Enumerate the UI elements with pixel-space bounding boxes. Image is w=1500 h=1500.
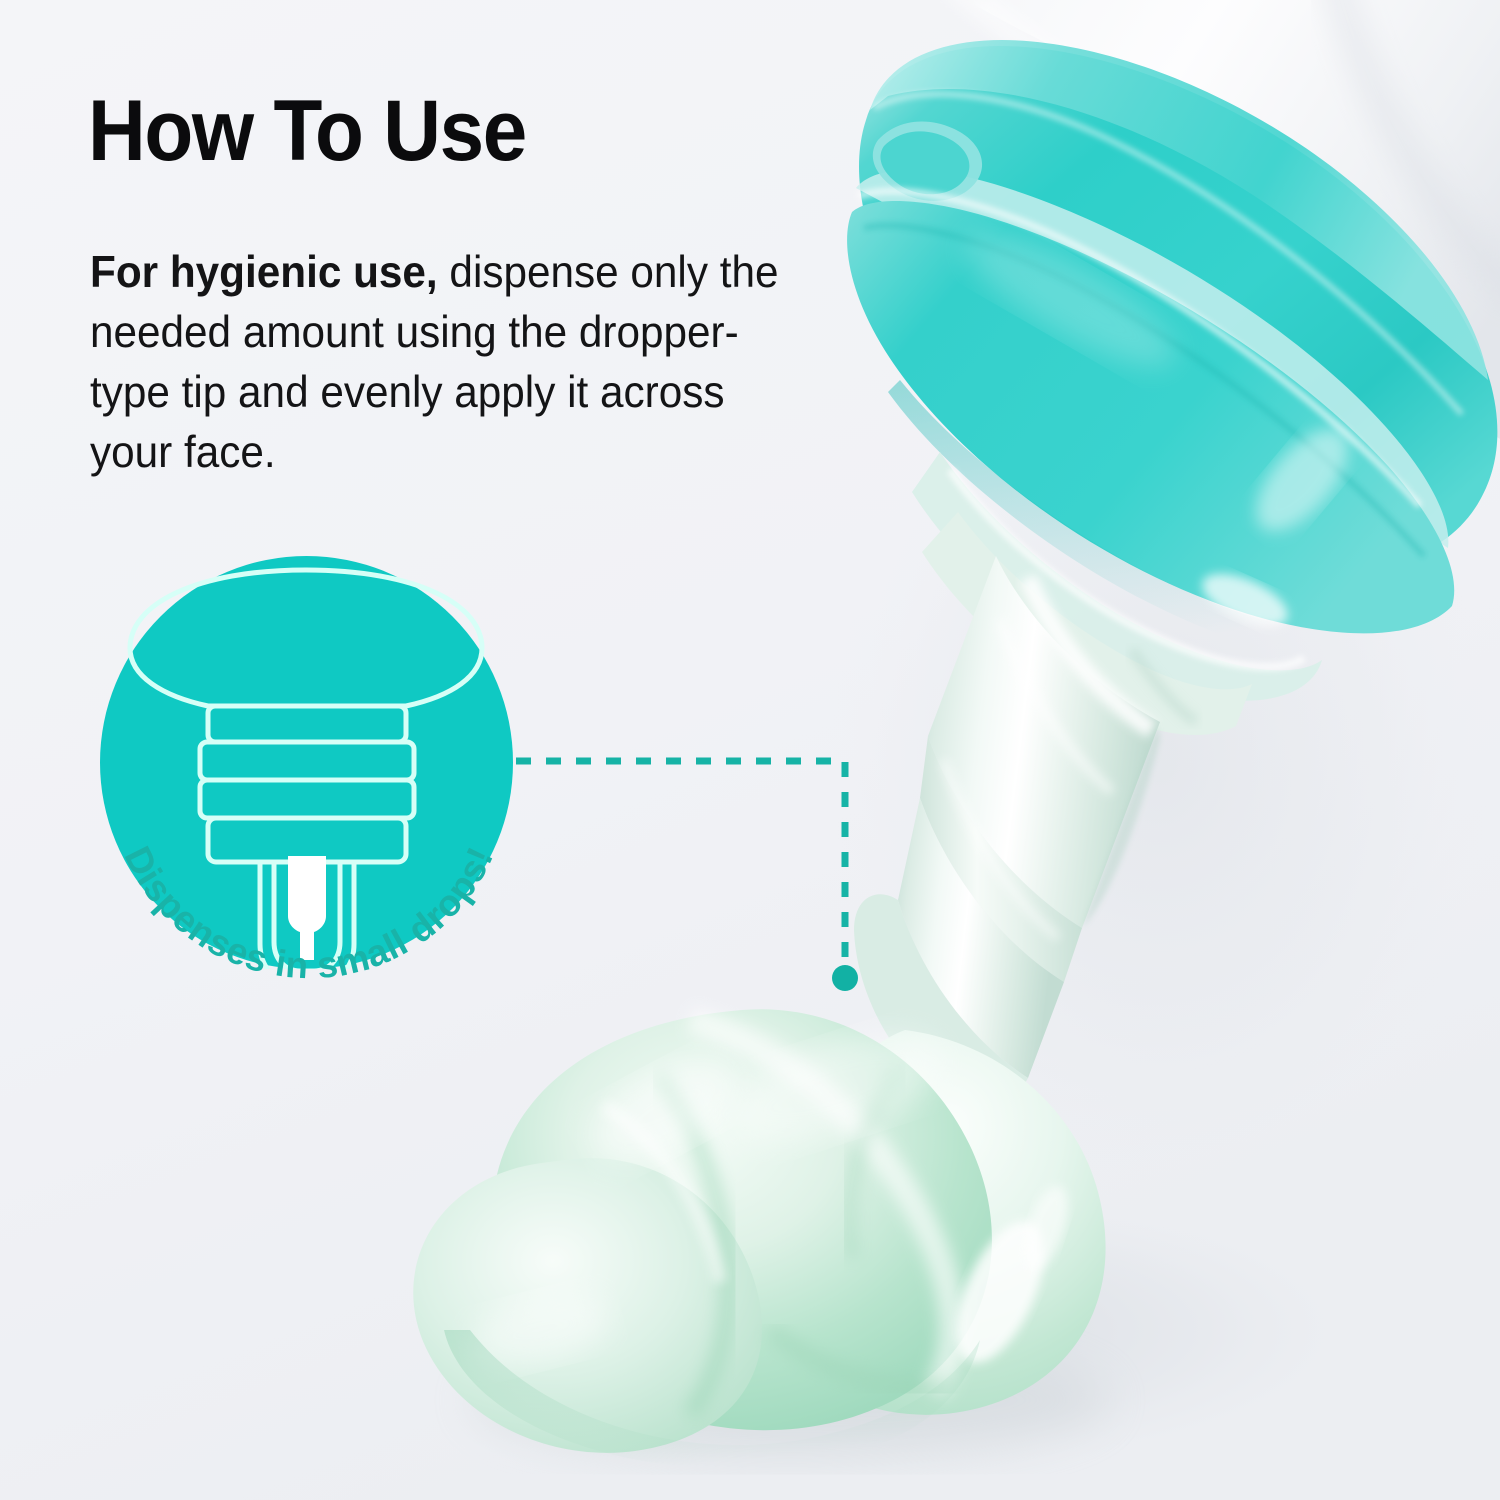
page-title: How To Use xyxy=(88,88,526,174)
feature-badge: Dispenses in small drops! xyxy=(100,556,513,969)
badge-caption: Dispenses in small drops! xyxy=(86,548,532,994)
svg-text:Dispenses in small drops!: Dispenses in small drops! xyxy=(117,840,502,986)
badge-caption-text: Dispenses in small drops! xyxy=(117,840,502,986)
infographic-canvas: How To Use For hygienic use, dispense on… xyxy=(0,0,1500,1500)
instructions-paragraph: For hygienic use, dispense only the need… xyxy=(90,243,793,483)
instructions-lead: For hygienic use, xyxy=(90,248,438,297)
